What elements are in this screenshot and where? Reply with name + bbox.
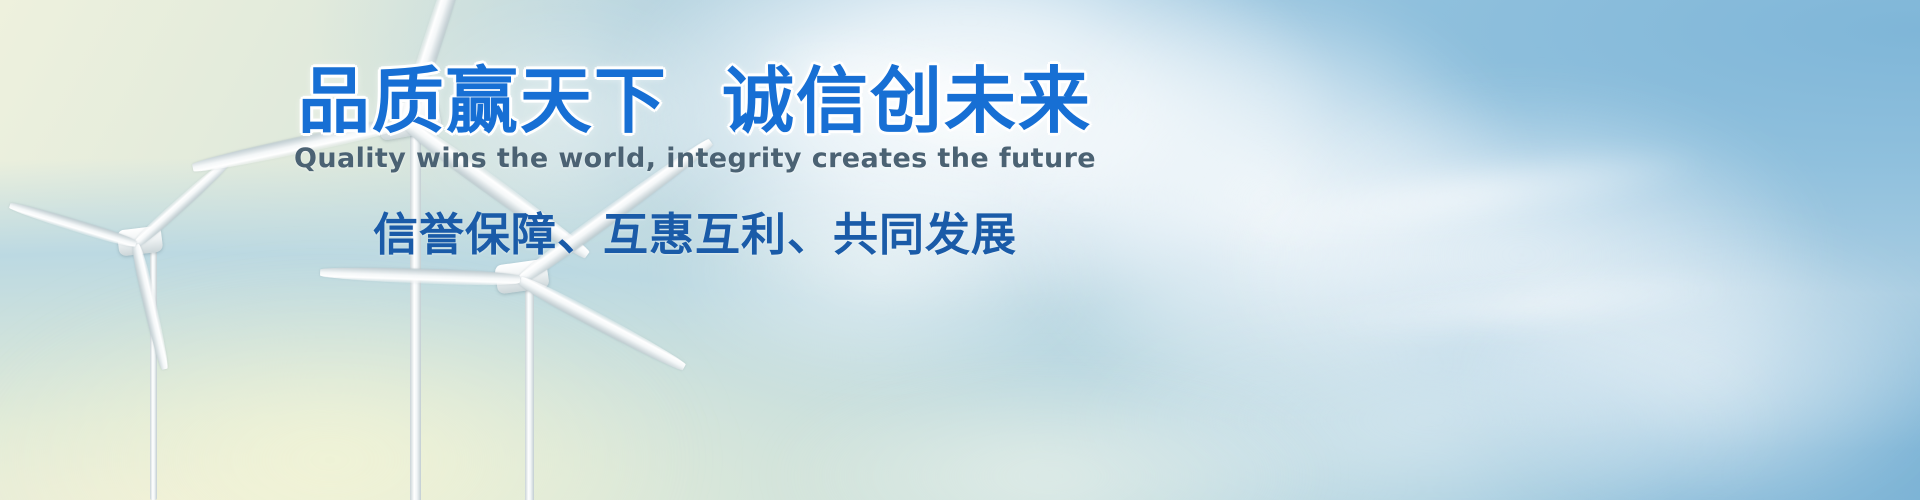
banner-text-block: 品质赢天下 诚信创未来 Quality wins the world, inte… [0, 0, 1920, 500]
banner-headline: 品质赢天下 诚信创未来 [0, 64, 1390, 139]
banner-subtitle: Quality wins the world, integrity create… [0, 143, 1390, 174]
hero-banner: 品质赢天下 诚信创未来 Quality wins the world, inte… [0, 0, 1920, 500]
banner-tagline: 信誉保障、互惠互利、共同发展 [0, 198, 1390, 263]
